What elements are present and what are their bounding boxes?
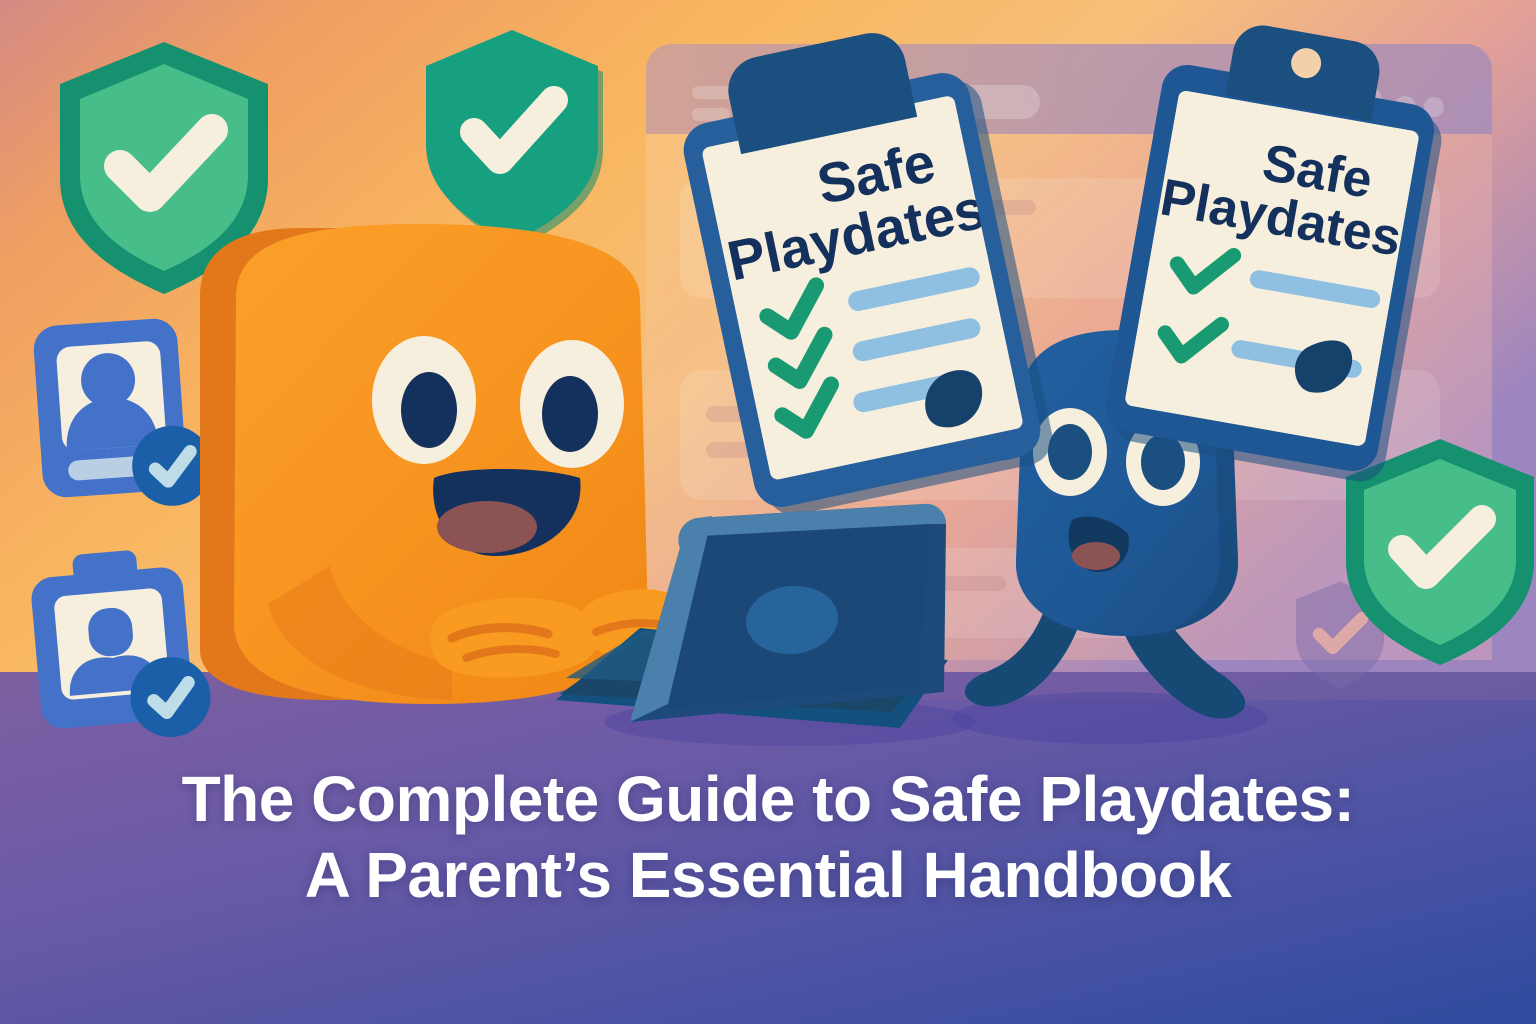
tongue [1072,542,1120,570]
orange-character [200,224,697,704]
hero-illustration: Safe Playdates [0,0,1536,1024]
tongue [437,501,537,553]
illustration-canvas: Safe Playdates [0,0,1536,1024]
